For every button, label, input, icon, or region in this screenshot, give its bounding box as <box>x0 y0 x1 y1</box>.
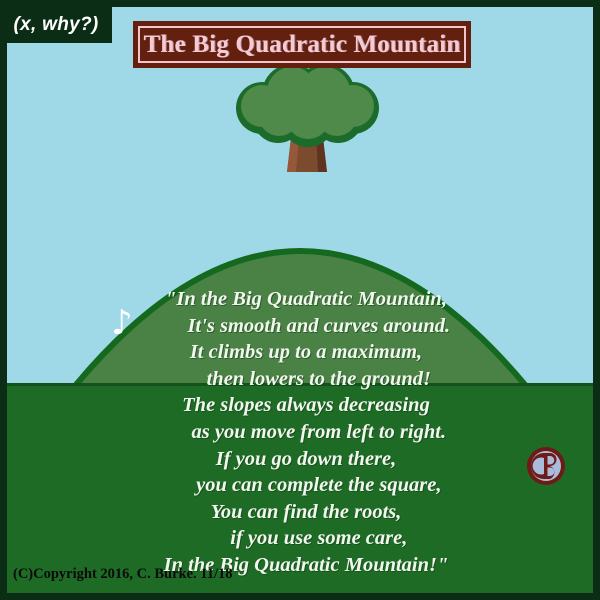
tree-canopy <box>236 64 379 147</box>
page-title: The Big Quadratic Mountain <box>143 31 460 59</box>
poem-line: If you go down there, <box>96 446 516 473</box>
comic-panel: "In the Big Quadratic Mountain, It's smo… <box>0 0 600 600</box>
xwhy-brand-box: (x, why?) <box>0 7 112 43</box>
poem-line: "In the Big Quadratic Mountain, <box>96 286 516 313</box>
poem-line: if you use some care, <box>96 525 516 552</box>
poem-line: You can find the roots, <box>96 499 516 526</box>
poem-line: you can complete the square, <box>96 472 516 499</box>
cb-logo-svg <box>525 445 567 487</box>
poem-line: then lowers to the ground! <box>96 366 516 393</box>
title-banner: The Big Quadratic Mountain <box>133 21 471 68</box>
xwhy-brand-label: (x, why?) <box>13 14 98 36</box>
poem-line: It climbs up to a maximum, <box>96 339 516 366</box>
poem-line: as you move from left to right. <box>96 419 516 446</box>
poem-block: "In the Big Quadratic Mountain, It's smo… <box>96 286 516 579</box>
poem-line: The slopes always decreasing <box>96 392 516 419</box>
cb-monogram-logo <box>525 445 567 487</box>
copyright-notice: (C)Copyright 2016, C. Burke. 11/18 <box>13 566 233 583</box>
music-note-icon: ♪ <box>111 306 133 340</box>
poem-line: It's smooth and curves around. <box>96 313 516 340</box>
